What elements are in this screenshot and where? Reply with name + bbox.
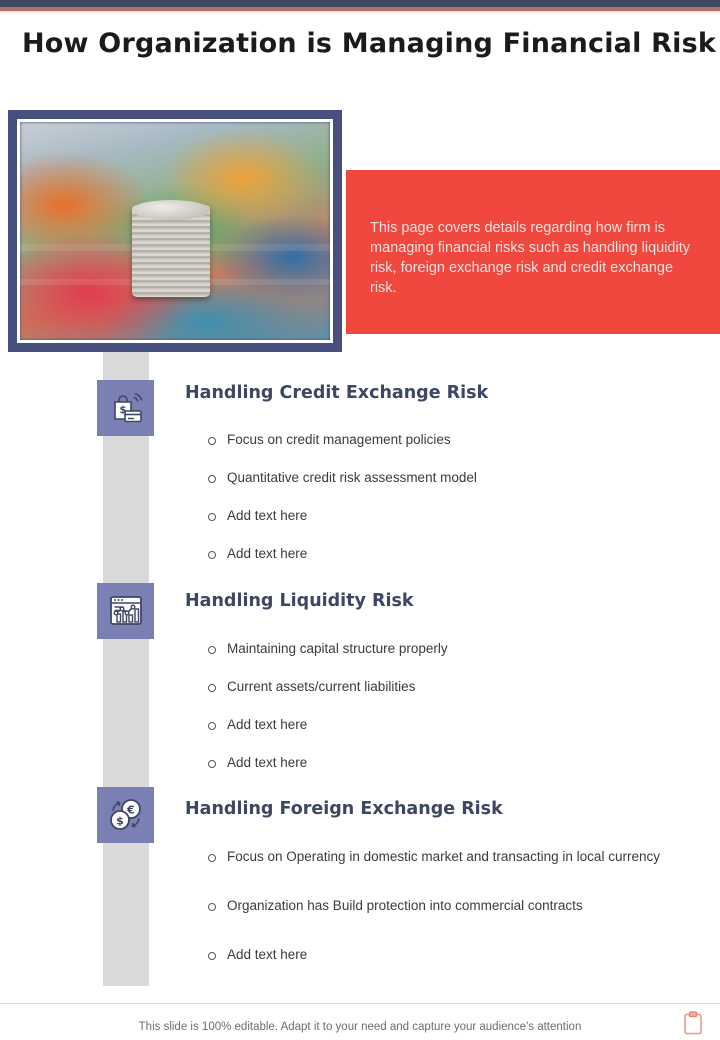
section-heading: Handling Credit Exchange Risk [185, 383, 488, 403]
currency-exchange-coins-icon: € $ [97, 787, 154, 843]
intro-callout-box: This page covers details regarding how f… [346, 170, 720, 334]
list-item: Maintaining capital structure properly [206, 640, 666, 657]
section-bullet-list: Maintaining capital structure properly C… [206, 640, 666, 771]
list-item: Add text here [206, 716, 666, 733]
shopping-bag-credit-card-icon: $ [97, 380, 154, 436]
timeline-spine [103, 352, 149, 986]
section-heading: Handling Foreign Exchange Risk [185, 799, 503, 819]
list-item: Focus on Operating in domestic market an… [206, 848, 666, 865]
hero-image-frame [8, 110, 342, 352]
list-item: Add text here [206, 507, 666, 524]
section-bullet-list: Focus on credit management policies Quan… [206, 431, 666, 562]
list-item: Organization has Build protection into c… [206, 897, 666, 914]
top-accent-fade [0, 11, 720, 15]
intro-callout-text: This page covers details regarding how f… [370, 218, 696, 298]
analytics-chart-window-icon [97, 583, 154, 639]
footer-note: This slide is 100% editable. Adapt it to… [0, 1021, 720, 1033]
list-item: Add text here [206, 946, 666, 963]
top-accent-bar-navy [0, 0, 720, 7]
list-item: Quantitative credit risk assessment mode… [206, 469, 666, 486]
list-item: Add text here [206, 545, 666, 562]
list-item: Current assets/current liabilities [206, 678, 666, 695]
clipboard-icon [682, 1011, 704, 1035]
page-title: How Organization is Managing Financial R… [22, 28, 682, 59]
svg-text:$: $ [116, 815, 124, 828]
slide-canvas: How Organization is Managing Financial R… [0, 0, 720, 1040]
hero-image [17, 119, 333, 343]
list-item: Focus on credit management policies [206, 431, 666, 448]
list-item: Add text here [206, 754, 666, 771]
section-heading: Handling Liquidity Risk [185, 591, 414, 611]
footer-divider [0, 1003, 720, 1004]
section-bullet-list: Focus on Operating in domestic market an… [206, 848, 666, 963]
